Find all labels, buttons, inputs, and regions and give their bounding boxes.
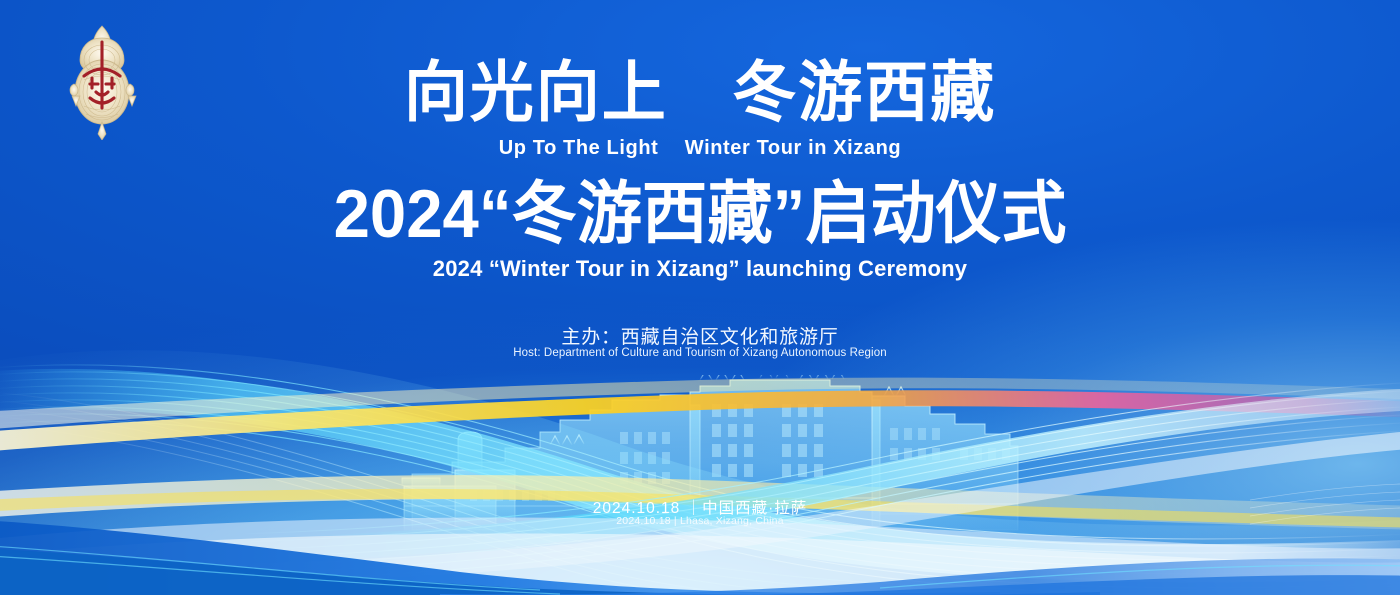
event-backdrop: 向光向上 冬游西藏 Up To The Light Winter Tour in… bbox=[0, 0, 1400, 595]
page-title: 向光向上 冬游西藏 bbox=[21, 55, 1379, 129]
headline-cn-part2: 冬游西藏 bbox=[732, 55, 996, 129]
event-title-en: 2024 “Winter Tour in Xizang” launching C… bbox=[0, 256, 1400, 282]
host-line-cn: 主办：西藏自治区文化和旅游厅 bbox=[0, 322, 1400, 349]
host-line-en: Host: Department of Culture and Tourism … bbox=[0, 347, 1400, 359]
date-venue-en: 2024.10.18 | Lhasa, Xizang, China bbox=[0, 515, 1400, 527]
event-title-cn: 2024“冬游西藏”启动仪式 bbox=[28, 176, 1372, 252]
headline-en-part1: Up To The Light bbox=[499, 137, 659, 159]
headline-en-part2: Winter Tour in Xizang bbox=[685, 137, 902, 159]
headline-cn-part1: 向光向上 bbox=[404, 55, 668, 129]
headline-english: Up To The Light Winter Tour in Xizang bbox=[0, 137, 1400, 160]
banner-content: 向光向上 冬游西藏 Up To The Light Winter Tour in… bbox=[0, 0, 1400, 595]
